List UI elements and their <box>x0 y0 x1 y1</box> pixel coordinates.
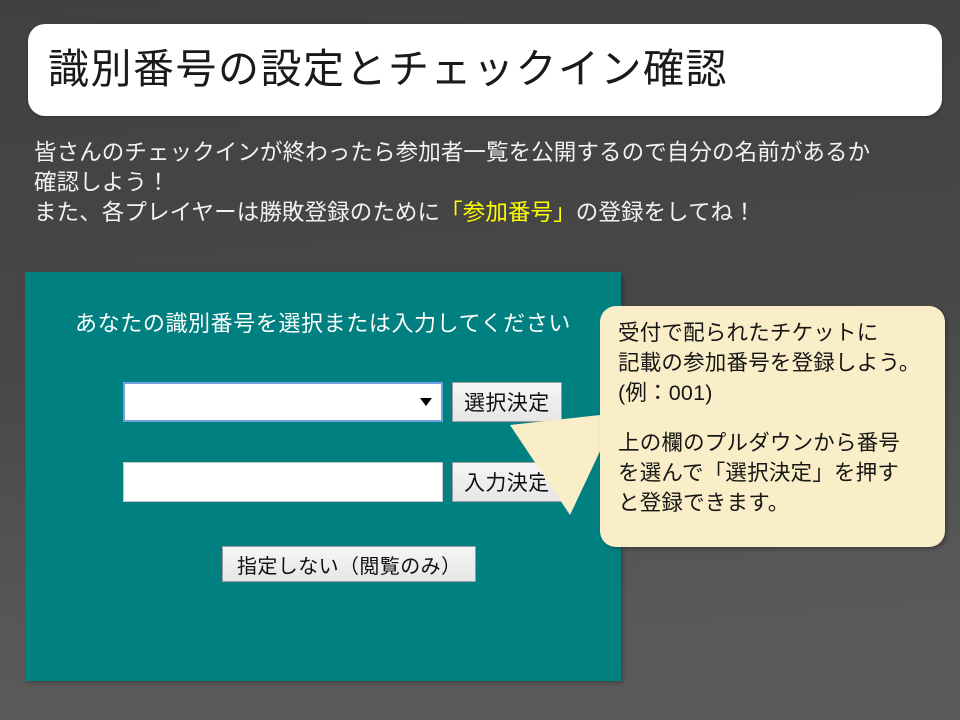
input-row: 入力決定 <box>123 462 562 502</box>
body-copy-line-3-before: また、各プレイヤーは勝敗登録のために <box>34 200 440 225</box>
body-copy-line-1: 皆さんのチェックインが終わったら参加者一覧を公開するので自分の名前があるか <box>34 138 934 168</box>
select-row: 選択決定 <box>123 382 562 422</box>
identification-number-select[interactable] <box>123 382 443 422</box>
callout-line-6: と登録できます。 <box>618 488 935 518</box>
browse-only-button[interactable]: 指定しない（閲覧のみ） <box>222 546 476 582</box>
page-title: 識別番号の設定とチェックイン確認 <box>48 47 728 92</box>
chevron-down-icon[interactable] <box>420 398 432 406</box>
body-copy-line-3-after: の登録をしてね！ <box>576 200 756 225</box>
callout-line-4: 上の欄のプルダウンから番号 <box>618 428 935 458</box>
title-card: 識別番号の設定とチェックイン確認 <box>28 24 942 116</box>
callout-line-2: 記載の参加番号を登録しよう。 <box>618 348 935 378</box>
panel-heading: あなたの識別番号を選択または入力してください <box>25 306 621 338</box>
callout-line-3: (例：001) <box>618 378 935 408</box>
callout-line-1: 受付で配られたチケットに <box>618 318 935 348</box>
body-copy-highlight: 「参加番号」 <box>440 200 576 225</box>
body-copy-line-3: また、各プレイヤーは勝敗登録のために「参加番号」の登録をしてね！ <box>34 198 934 228</box>
identification-number-input[interactable] <box>123 462 443 502</box>
body-copy: 皆さんのチェックインが終わったら参加者一覧を公開するので自分の名前があるか 確認… <box>34 138 934 228</box>
callout-bubble: 受付で配られたチケットに 記載の参加番号を登録しよう。 (例：001) 上の欄の… <box>600 306 945 547</box>
callout-spacer <box>618 408 935 428</box>
callout-text: 受付で配られたチケットに 記載の参加番号を登録しよう。 (例：001) 上の欄の… <box>618 318 935 518</box>
slide-canvas: 識別番号の設定とチェックイン確認 皆さんのチェックインが終わったら参加者一覧を公… <box>0 0 960 720</box>
callout-line-5: を選んで「選択決定」を押す <box>618 458 935 488</box>
body-copy-line-2: 確認しよう！ <box>34 168 934 198</box>
